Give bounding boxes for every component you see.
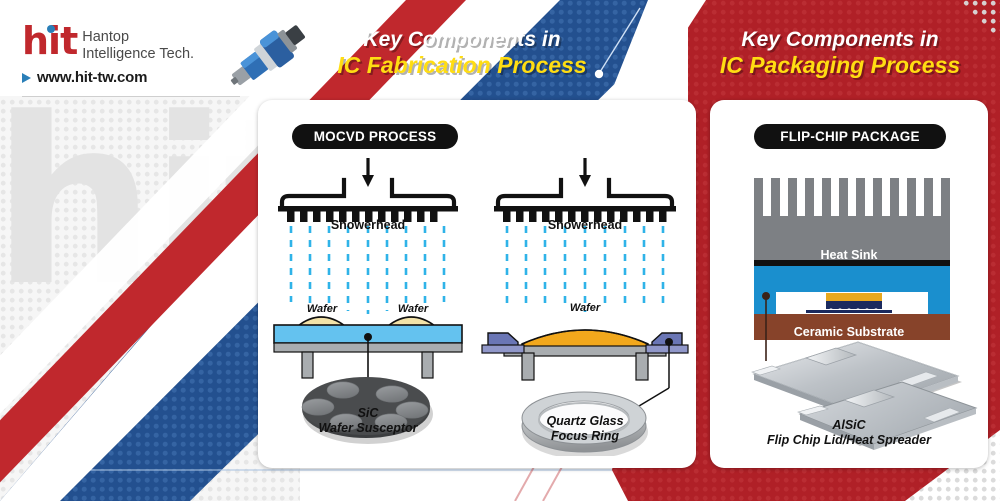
mocvd-showerhead-label: Showerhead [258, 218, 478, 232]
mocvd-wafer-label-right: Wafer [378, 303, 448, 315]
header-packaging-line2: IC Packaging Process [690, 52, 990, 79]
company-name: Hantop Intelligence Tech. [82, 24, 194, 62]
etching-caption: Quartz Glass Focus Ring [474, 414, 696, 444]
mocvd-caption-title: SiC [258, 406, 478, 421]
flipchip-caption-sub: Flip Chip Lid/Heat Spreader [710, 433, 988, 448]
panel-etching: ETCHING PROCESS [474, 100, 696, 468]
gas-flow-lines [291, 226, 444, 314]
die-substrate [826, 301, 882, 309]
flipchip-caption-title: AlSiC [710, 418, 988, 433]
fabrication-card: MOCVD PROCESS [258, 100, 696, 468]
header-fabrication-line2: IC Fabrication Process [312, 52, 612, 79]
gas-flow-lines [507, 226, 663, 312]
mocvd-wafer-label-left: Wafer [287, 303, 357, 315]
interconnect-traces [806, 310, 892, 313]
header-fabrication-line1: Key Components in [312, 28, 612, 52]
company-name-line2: Intelligence Tech. [82, 46, 194, 63]
logo-divider [22, 96, 240, 97]
website-link[interactable]: www.hit-tw.com [22, 69, 252, 86]
mocvd-caption: SiC Wafer Susceptor [258, 406, 478, 436]
etching-caption-title: Quartz Glass [474, 414, 696, 429]
ceramic-substrate-label: Ceramic Substrate [710, 325, 988, 339]
pill-flip-chip-package: FLIP-CHIP PACKAGE [754, 124, 946, 149]
packaging-card: FLIP-CHIP PACKAGE [710, 100, 988, 468]
gas-inlet-arrow-icon [579, 158, 591, 187]
brand-logo[interactable]: hit Hantop Intelligence Tech. www.hit-tw… [22, 24, 252, 100]
tool-holder-illustration [222, 18, 314, 96]
header-fabrication: Key Components in IC Fabrication Process [312, 28, 612, 79]
header-packaging-line1: Key Components in [690, 28, 990, 52]
etch-chuck-assembly [482, 330, 688, 380]
heat-sink-label: Heat Sink [710, 248, 988, 262]
header-packaging: Key Components in IC Packaging Process [690, 28, 990, 79]
play-triangle-icon [22, 73, 31, 83]
infographic-canvas: hit [0, 0, 1000, 501]
etching-caption-sub: Focus Ring [474, 429, 696, 444]
gas-inlet-arrow-icon [362, 158, 374, 187]
mocvd-caption-sub: Wafer Susceptor [258, 421, 478, 436]
website-url-label: www.hit-tw.com [37, 69, 147, 86]
etching-wafer-label: Wafer [550, 302, 620, 314]
heat-sink-fins [754, 178, 950, 220]
logo-dot-icon [47, 25, 55, 33]
panel-mocvd: MOCVD PROCESS [258, 100, 478, 468]
logo-wordmark: hit [22, 24, 77, 58]
company-name-line1: Hantop [82, 29, 194, 46]
die [826, 293, 882, 301]
etching-showerhead-label: Showerhead [474, 218, 696, 232]
pill-mocvd-process: MOCVD PROCESS [292, 124, 458, 149]
flipchip-caption: AlSiC Flip Chip Lid/Heat Spreader [710, 418, 988, 448]
